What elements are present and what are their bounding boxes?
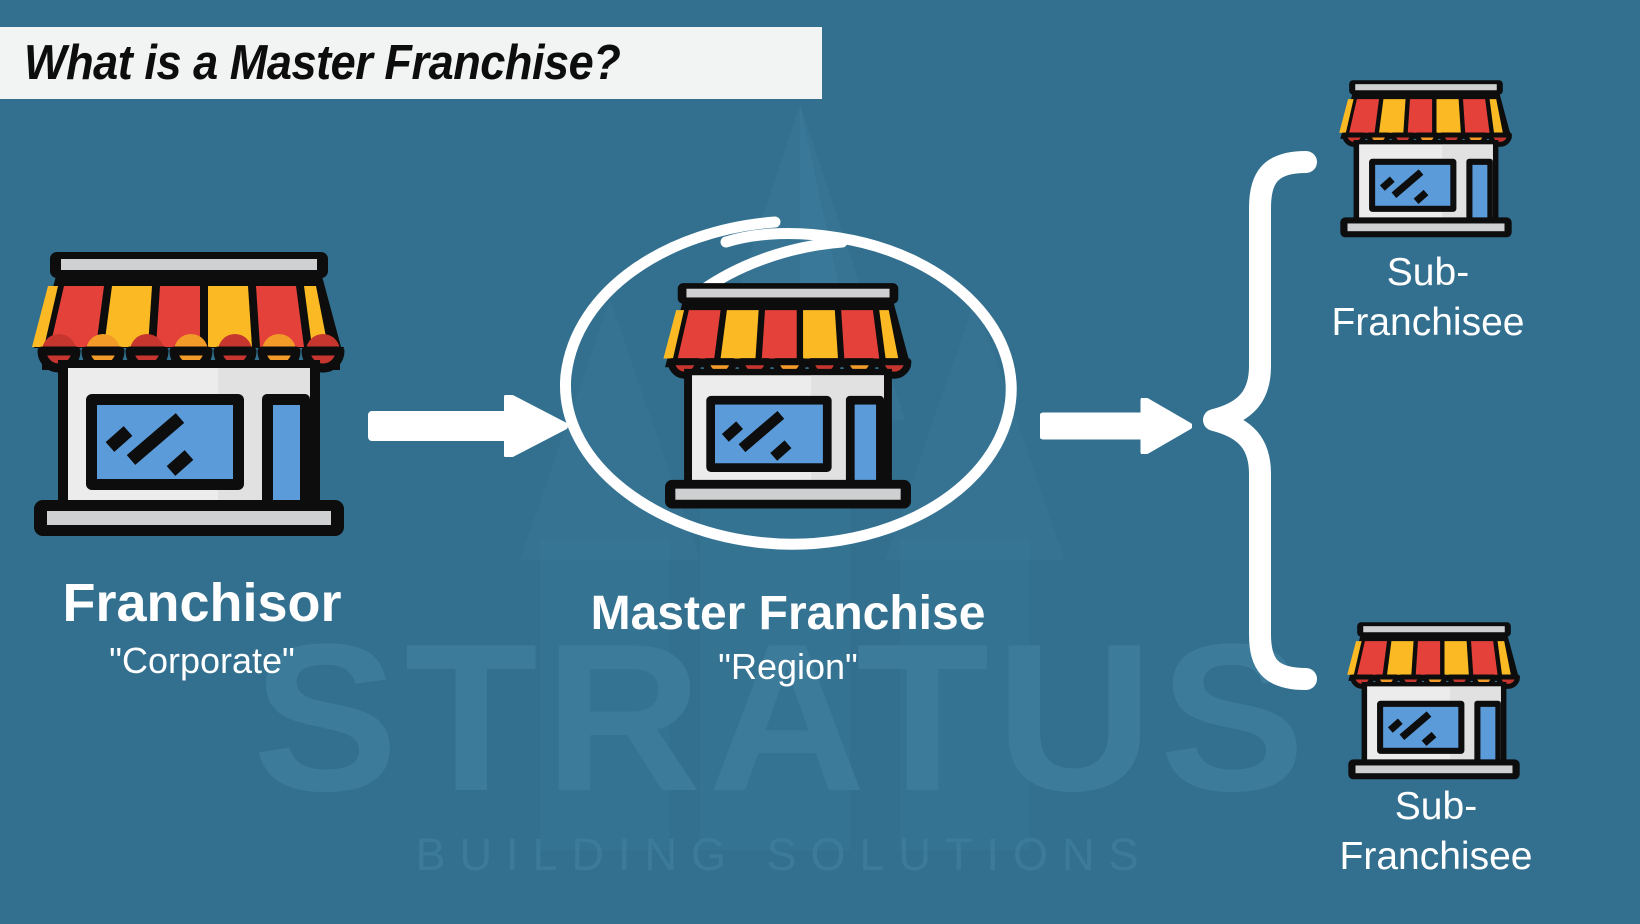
storefront-icon-franchisor (28, 248, 350, 548)
branch-label-line1: Sub- (1290, 248, 1566, 298)
node-subtitle-master-franchise: "Region" (528, 644, 1048, 690)
page-title: What is a Master Franchise? (24, 39, 620, 88)
branch-label-sub-franchisee-bottom: Sub- Franchisee (1298, 782, 1574, 882)
node-title-franchisor: Franchisor (0, 572, 404, 634)
branch-label-sub-franchisee-top: Sub- Franchisee (1290, 248, 1566, 348)
curly-brace-icon (1198, 148, 1328, 693)
arrow-right-icon-franchisor-to-master (368, 395, 568, 457)
arrow-right-icon-master-to-branches (1040, 398, 1192, 454)
watermark-tagline: BUILDING SOLUTIONS (415, 829, 1152, 880)
node-title-master-franchise: Master Franchise (528, 586, 1048, 642)
infographic-canvas: STRATUS BUILDING SOLUTIONS What is a Mas… (0, 0, 1640, 924)
branch-label-line1: Sub- (1298, 782, 1574, 832)
storefront-icon-sub-franchisee-bottom (1345, 620, 1523, 786)
storefront-icon-sub-franchisee-top (1337, 78, 1515, 244)
node-subtitle-franchisor: "Corporate" (0, 638, 404, 684)
title-banner: What is a Master Franchise? (0, 27, 822, 99)
storefront-icon-master-franchise (660, 280, 916, 518)
branch-label-line2: Franchisee (1298, 832, 1574, 882)
branch-label-line2: Franchisee (1290, 298, 1566, 348)
